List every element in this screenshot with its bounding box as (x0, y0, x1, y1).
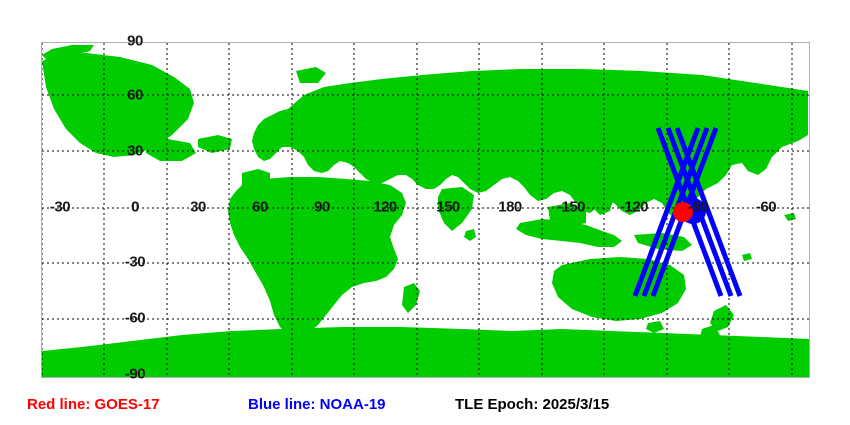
lon-tick-label: 60 (252, 200, 268, 215)
lon-tick-label: -60 (756, 200, 776, 215)
lat-tick-label: 0 (131, 200, 139, 215)
landmass-tasmania (646, 321, 664, 333)
lon-tick-label: -30 (50, 200, 70, 215)
lat-tick-label: 60 (127, 88, 143, 103)
legend-tle-epoch: TLE Epoch: 2025/3/15 (455, 392, 609, 418)
lon-tick-label: -150 (557, 200, 585, 215)
lon-tick-label: 120 (373, 200, 397, 215)
satellite-tracking-map-figure: -30 0 30 60 90 120 150 180 -150 -120 -90… (0, 0, 850, 425)
lat-tick-label: -30 (125, 255, 145, 270)
landmass-pacific-islands (742, 253, 752, 261)
map-legend: Red line: GOES-17 Blue line: NOAA-19 TLE… (0, 392, 850, 418)
lon-tick-label: 30 (190, 200, 206, 215)
lat-tick-label: -90 (125, 367, 145, 382)
landmass-antarctica (42, 327, 809, 377)
landmass-svalbard (296, 67, 326, 83)
landmass-philippines (592, 189, 614, 215)
landmass-hawaii (784, 213, 796, 221)
lon-tick-label: -120 (620, 200, 648, 215)
lon-tick-label: 180 (498, 200, 522, 215)
legend-red-line-goes17: Red line: GOES-17 (27, 392, 160, 418)
lon-tick-label: 150 (436, 200, 460, 215)
legend-blue-line-noaa19: Blue line: NOAA-19 (248, 392, 386, 418)
lon-tick-label: -90 (688, 200, 708, 215)
landmass-sri-lanka (464, 229, 476, 241)
landmass-iceland (198, 135, 232, 153)
lat-tick-label: 30 (127, 144, 143, 159)
lat-tick-label: -60 (125, 311, 145, 326)
lat-tick-label: 90 (127, 34, 143, 49)
landmass-baffin (146, 139, 196, 161)
lon-tick-label: 90 (314, 200, 330, 215)
